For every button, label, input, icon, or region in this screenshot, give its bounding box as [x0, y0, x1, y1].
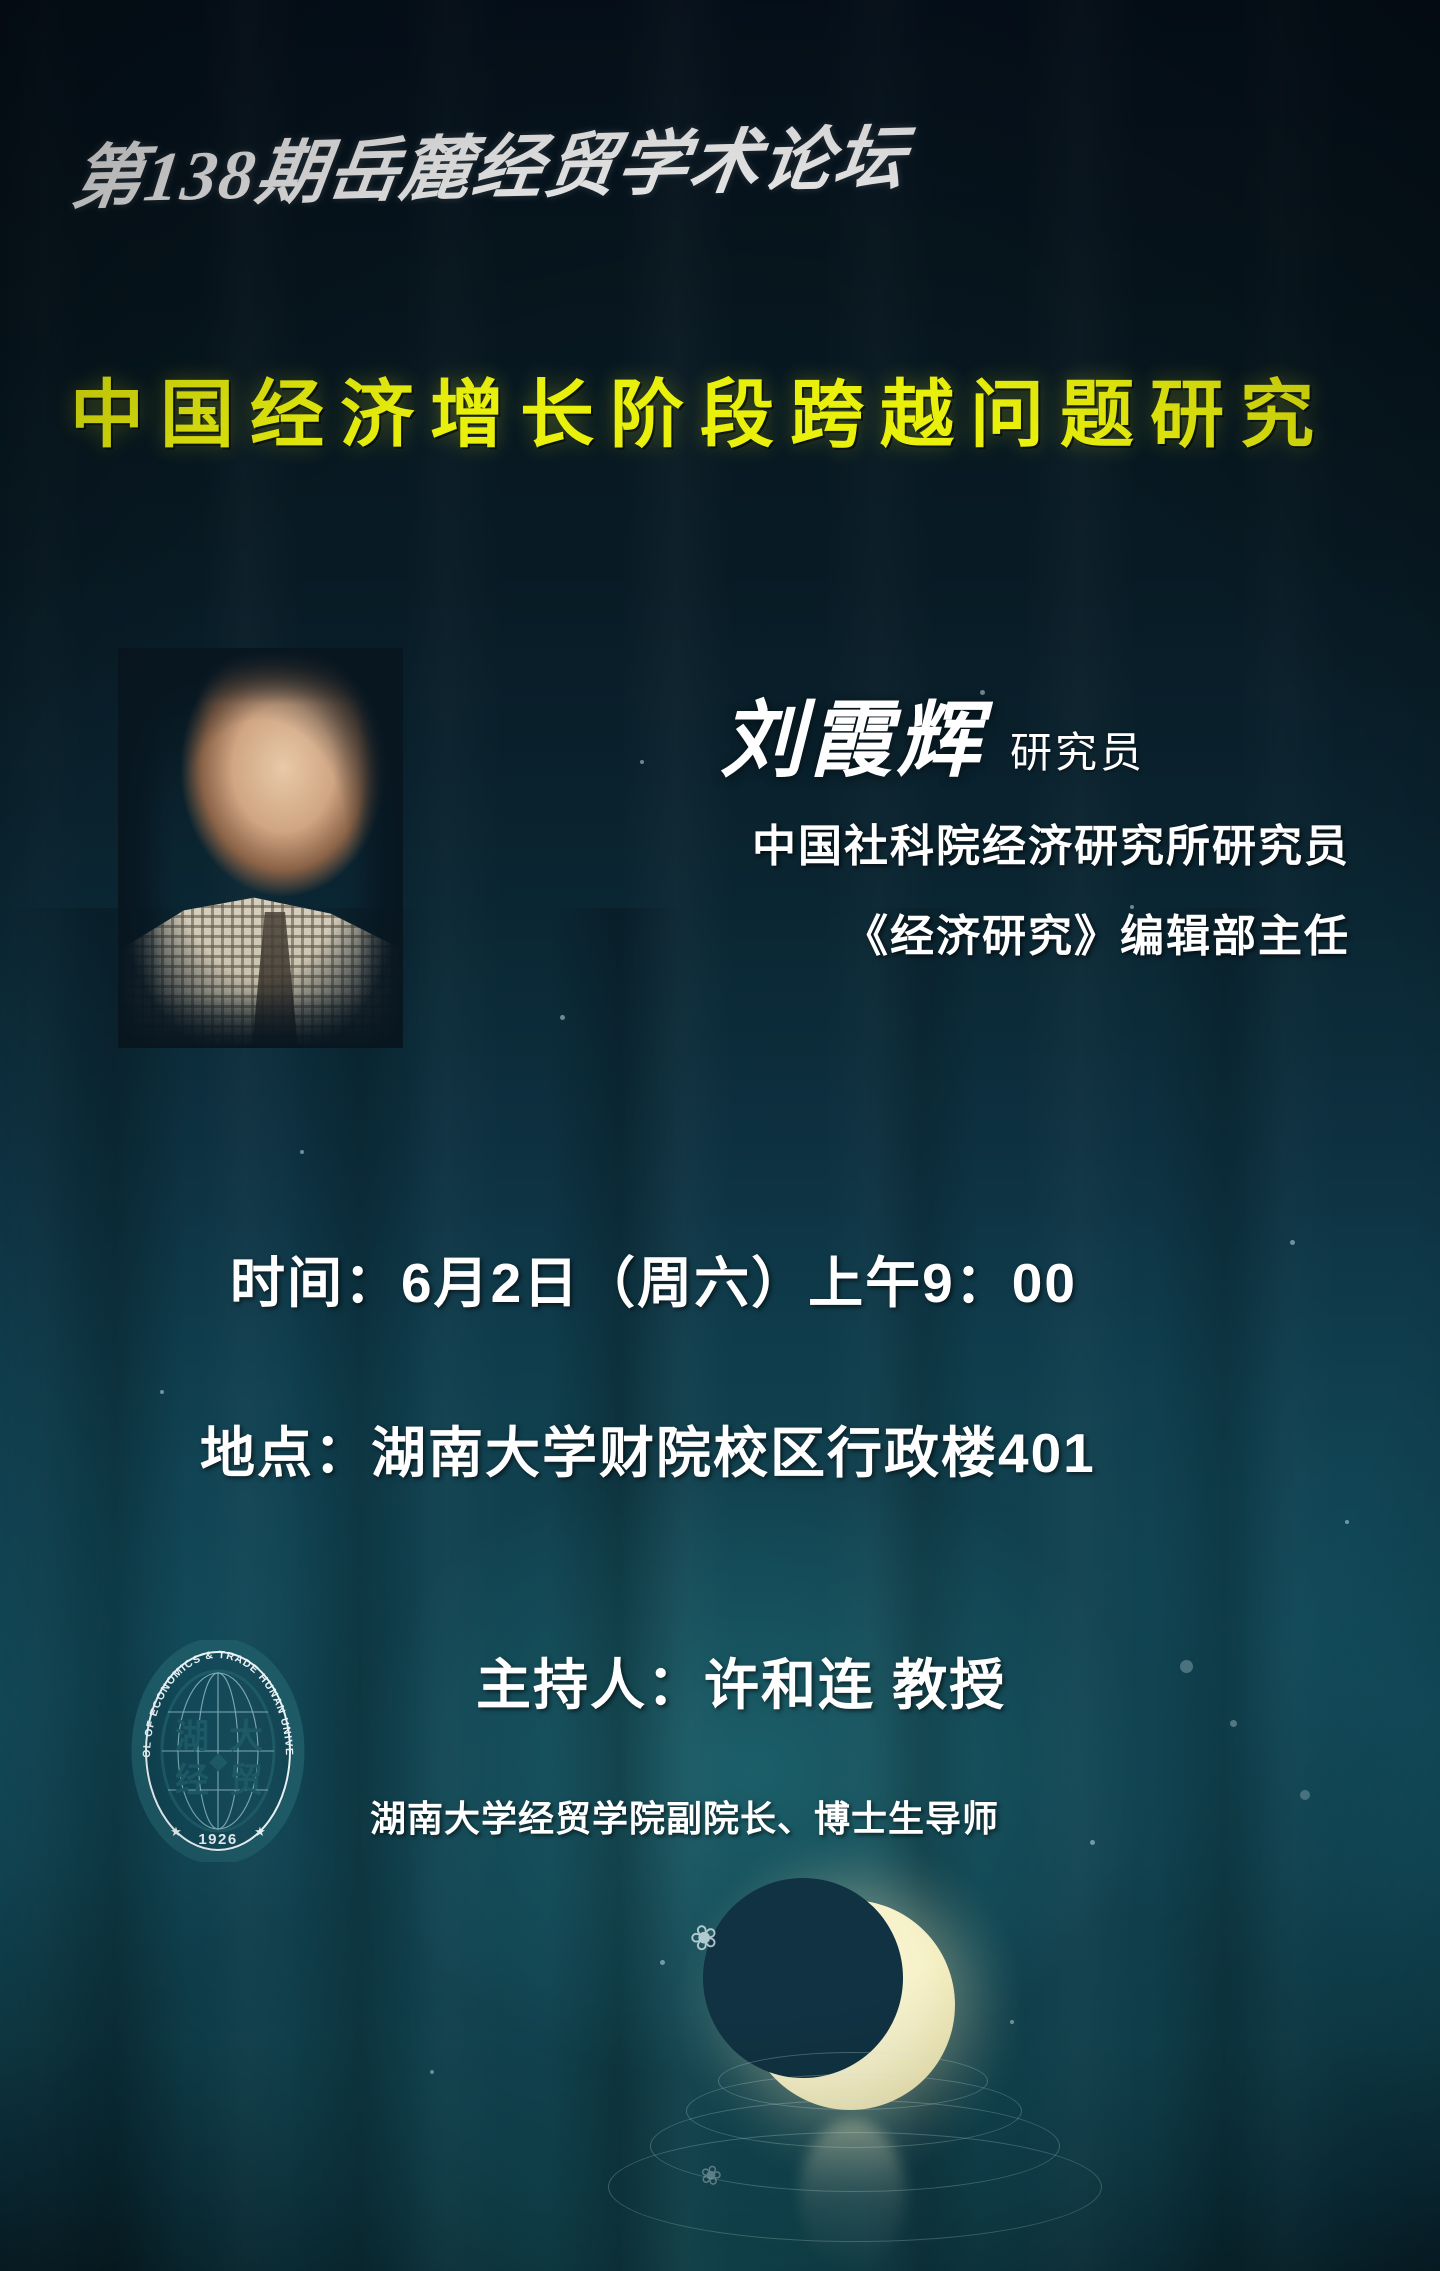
speaker-name: 刘霞辉: [720, 700, 984, 784]
event-location: 地点：湖南大学财院校区行政楼401: [200, 1408, 1096, 1488]
logo-year: 1926: [198, 1831, 237, 1848]
sparkle-icon: [1290, 1240, 1295, 1245]
sparkle-icon: [1010, 2020, 1014, 2024]
poster-canvas: 第138期岳麓经贸学术论坛 中国经济增长阶段跨越问题研究 刘霞辉 研究员 中国社…: [0, 0, 1440, 2271]
logo-char-2: 大: [229, 1718, 263, 1756]
butterfly-icon: ❀: [697, 2158, 726, 2193]
sparkle-icon: [1345, 1520, 1349, 1524]
sparkle-icon: [1180, 1660, 1193, 1673]
event-time: 时间：6月2日（周六）上午9：00: [230, 1238, 1077, 1318]
water-ripple: [650, 2100, 1060, 2192]
speaker-info-block: 刘霞辉 研究员 中国社科院经济研究所研究员 《经济研究》编辑部主任: [430, 700, 1390, 964]
sparkle-icon: [430, 2070, 434, 2074]
sparkle-icon: [300, 1150, 304, 1154]
host-subtitle: 湖南大学经贸学院副院长、博士生导师: [370, 1790, 999, 1842]
logo-char-4: 贸: [229, 1762, 263, 1800]
sparkle-icon: [1090, 1840, 1095, 1845]
sparkle-icon: [560, 1015, 565, 1020]
sparkle-icon: [660, 1960, 665, 1965]
moon-shadow: [703, 1878, 903, 2078]
star-icon: ★: [170, 1824, 182, 1839]
sparkle-icon: [1300, 1790, 1310, 1800]
host-name: 主持人：许和连 教授: [476, 1640, 1006, 1720]
sparkle-icon: [160, 1390, 164, 1394]
page-title: 中国经济增长阶段跨越问题研究: [70, 355, 1390, 462]
speaker-portrait-image: [118, 648, 403, 1048]
speaker-name-row: 刘霞辉 研究员: [430, 700, 1390, 784]
moon-reflection: [800, 2120, 905, 2270]
speaker-affiliation-secondary: 《经济研究》编辑部主任: [430, 900, 1390, 964]
star-icon: ★: [254, 1824, 266, 1839]
logo-char-1: 湖: [175, 1718, 209, 1756]
series-title: 第138期岳麓经贸学术论坛: [67, 102, 914, 223]
logo-char-3: 经: [175, 1762, 209, 1800]
school-logo-svg: 湖 大 经 贸 SCHOOL OF ECONOMICS & TRADE HUNA…: [128, 1640, 308, 1862]
sparkle-icon: [1230, 1720, 1237, 1727]
school-logo: 湖 大 经 贸 SCHOOL OF ECONOMICS & TRADE HUNA…: [128, 1640, 308, 1862]
crescent-moon-icon: [745, 1900, 955, 2110]
speaker-affiliation-primary: 中国社科院经济研究所研究员: [430, 810, 1390, 874]
background-shadow-bands: [0, 908, 1440, 2271]
speaker-rank: 研究员: [1010, 730, 1145, 784]
water-ripple: [608, 2132, 1102, 2242]
speaker-photo: [118, 648, 403, 1048]
